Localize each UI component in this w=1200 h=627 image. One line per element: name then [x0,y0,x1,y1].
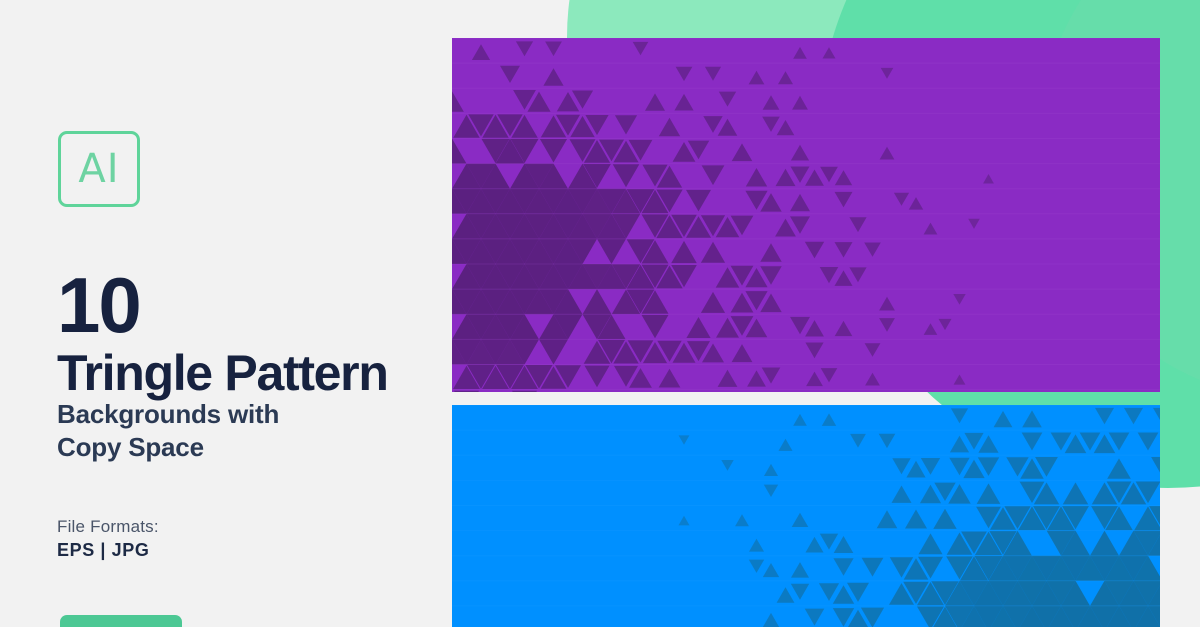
page-title: Tringle Pattern [57,348,388,398]
file-formats-value: EPS | JPG [57,540,149,561]
info-column: AI 10 Tringle Pattern Backgrounds with C… [0,0,452,627]
headline-count: 10 [57,266,140,344]
subtitle: Backgrounds with Copy Space [57,398,279,465]
ai-format-badge: AI [58,131,140,207]
triangle-pattern-purple [452,38,1160,392]
triangle-pattern-blue [452,405,1160,627]
subtitle-line-2: Copy Space [57,431,279,464]
purple-pattern-preview [452,38,1160,392]
cta-button[interactable] [60,615,182,627]
subtitle-line-1: Backgrounds with [57,398,279,431]
ai-badge-label: AI [78,149,119,189]
file-formats-label: File Formats: [57,517,159,537]
poster-canvas: AI 10 Tringle Pattern Backgrounds with C… [0,0,1200,627]
blue-pattern-preview [452,405,1160,627]
